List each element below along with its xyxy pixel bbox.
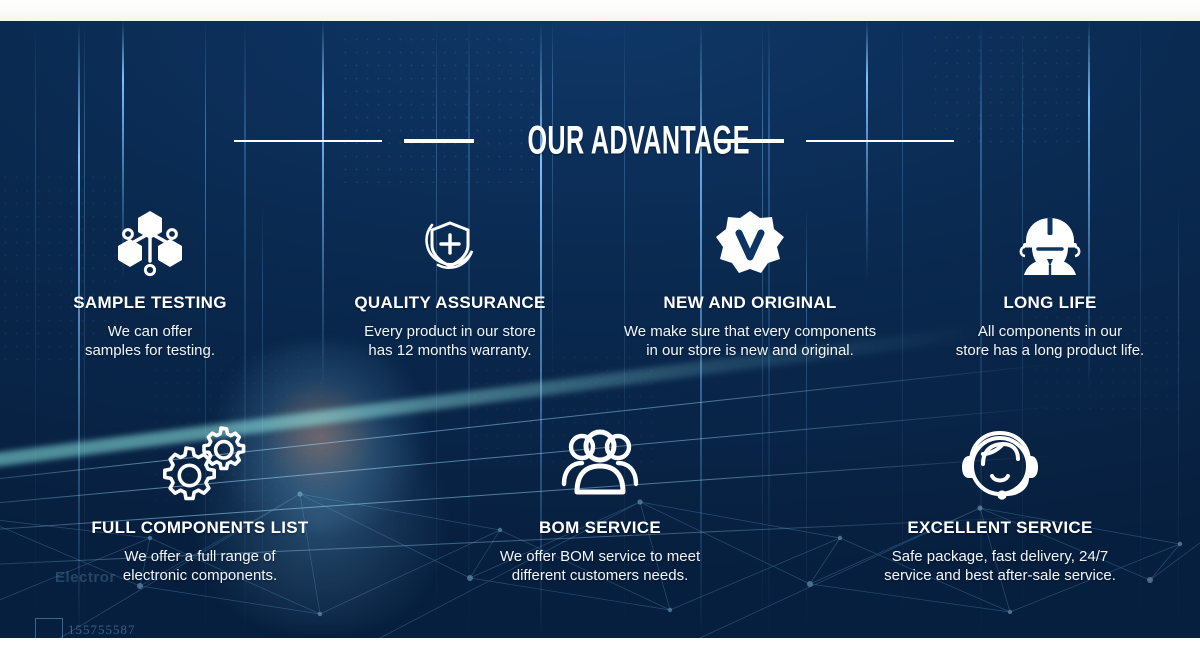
verified-badge-icon [714,207,786,279]
decoration-thick-bar [714,139,784,144]
feature-card-bom-service[interactable]: BOM SERVICE We offer BOM service to meet… [400,426,800,585]
feature-card-title: SAMPLE TESTING [73,293,226,313]
decoration-hairline [806,140,954,142]
feature-card-excellent-service[interactable]: EXCELLENT SERVICE Safe package, fast del… [800,426,1200,585]
gears-icon [150,426,250,504]
feature-card-title: LONG LIFE [1003,293,1096,313]
feature-card-description: Safe package, fast delivery, 24/7 servic… [884,547,1116,585]
advantage-banner: Electror 155755587 OUR ADVANTAGE [0,21,1200,638]
feature-card-new-and-original[interactable]: NEW AND ORIGINAL We make sure that every… [600,207,900,360]
feature-card-description: We offer BOM service to meet different c… [500,547,700,585]
molecule-nodes-icon [114,207,186,279]
feature-card-description: Every product in our store has 12 months… [364,322,536,360]
page-title: OUR ADVANTAGE [516,118,685,163]
title-decoration-left [234,135,486,147]
top-white-strip [0,0,1200,21]
feature-card-title: FULL COMPONENTS LIST [91,518,308,538]
decoration-hairline [234,140,382,142]
feature-card-description: All components in our store has a long p… [956,322,1144,360]
section-title-row: OUR ADVANTAGE [0,117,1200,165]
feature-card-description: We offer a full range of electronic comp… [123,547,277,585]
feature-card-description: We can offer samples for testing. [85,322,215,360]
feature-row-1: SAMPLE TESTING We can offer samples for … [0,207,1200,360]
feature-card-title: BOM SERVICE [539,518,661,538]
background-faint-square [35,618,63,638]
shield-plus-icon [414,207,486,279]
feature-row-2: FULL COMPONENTS LIST We offer a full ran… [0,426,1200,585]
users-group-icon [560,426,640,504]
feature-card-description: We make sure that every components in ou… [624,322,876,360]
title-decoration-right [714,135,966,147]
background-faint-digits: 155755587 [68,622,136,638]
headset-support-icon [959,426,1041,504]
decoration-thick-bar [404,139,474,144]
feature-card-title: QUALITY ASSURANCE [354,293,545,313]
feature-card-quality-assurance[interactable]: QUALITY ASSURANCE Every product in our s… [300,207,600,360]
feature-card-long-life[interactable]: LONG LIFE All components in our store ha… [900,207,1200,360]
hard-hat-worker-icon [1014,207,1086,279]
feature-card-title: EXCELLENT SERVICE [907,518,1092,538]
feature-card-full-components-list[interactable]: FULL COMPONENTS LIST We offer a full ran… [0,426,400,585]
feature-card-title: NEW AND ORIGINAL [663,293,836,313]
feature-card-sample-testing[interactable]: SAMPLE TESTING We can offer samples for … [0,207,300,360]
